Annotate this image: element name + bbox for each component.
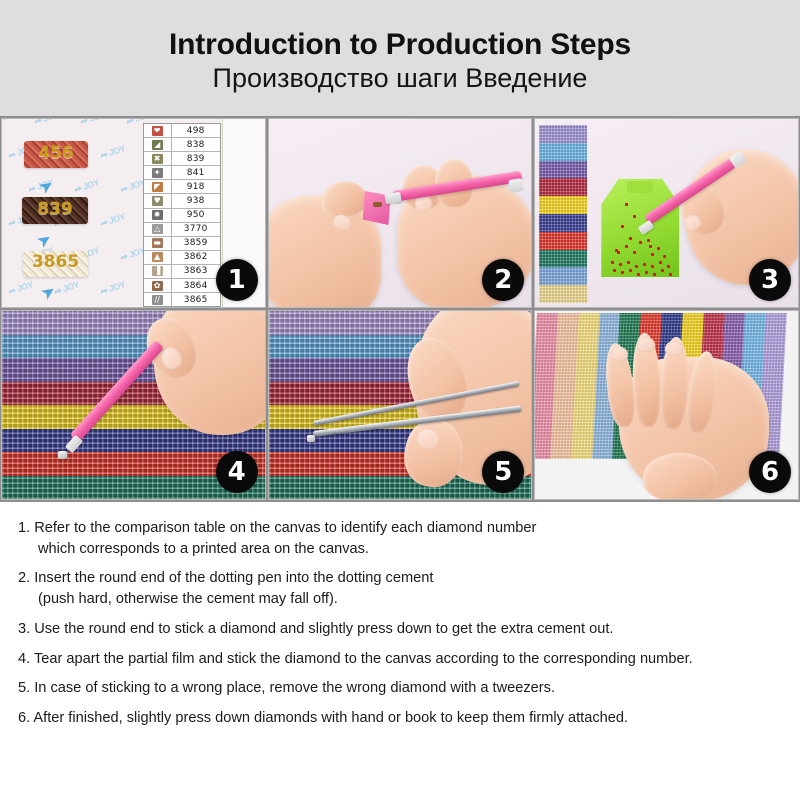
diamond-on-pen-tip bbox=[58, 451, 67, 459]
diamond-in-tweezers bbox=[307, 435, 315, 442]
color-chart-row: ◢838 bbox=[144, 138, 220, 152]
canvas-watermark-logo: ➦ JOY bbox=[7, 279, 35, 297]
dmc-symbol-icon: ✦ bbox=[152, 168, 163, 178]
color-symbol-cell: ▬ bbox=[144, 237, 172, 250]
step-number-badge-6: 6 bbox=[749, 451, 791, 493]
color-chart-row: ∕∕3865 bbox=[144, 293, 220, 306]
instruction-step: 6. After finished, slightly press down d… bbox=[18, 708, 782, 729]
color-chart-row: ✦841 bbox=[144, 166, 220, 180]
color-code-cell: 498 bbox=[172, 124, 220, 137]
step-number-badge-1: 1 bbox=[216, 259, 258, 301]
color-symbol-cell: ❤ bbox=[144, 124, 172, 137]
color-code-cell: 3864 bbox=[172, 279, 220, 292]
canvas-watermark-logo: ➦ JOY bbox=[33, 118, 61, 128]
fingernail-3 bbox=[665, 341, 683, 356]
instruction-step-line: 4. Tear apart the partial film and stick… bbox=[18, 649, 782, 670]
color-chart-row: ❤498 bbox=[144, 124, 220, 138]
color-symbol-cell: ✖ bbox=[144, 152, 172, 165]
step-panel-4: 4 bbox=[1, 310, 266, 500]
color-symbol-cell: ∕∕ bbox=[144, 293, 172, 306]
color-chart-row: △3770 bbox=[144, 223, 220, 237]
step-photo-grid: ➦ JOY➦ JOY➦ JOY➦ JOY➦ JOY➦ JOY➦ JOY➦ JOY… bbox=[0, 116, 800, 502]
dmc-symbol-icon: ❤ bbox=[152, 126, 163, 136]
page-header: Introduction to Production Steps Произво… bbox=[0, 0, 800, 116]
diamond-bag-cream: 3865 bbox=[23, 251, 88, 277]
dmc-symbol-icon: ✹ bbox=[152, 210, 163, 220]
instruction-step-line: 2. Insert the round end of the dotting p… bbox=[18, 568, 782, 589]
instruction-step: 1. Refer to the comparison table on the … bbox=[18, 518, 782, 559]
page-title-russian: Производство шаги Введение bbox=[213, 63, 588, 94]
color-symbol-cell: ◤ bbox=[144, 180, 172, 193]
dmc-symbol-icon: ◢ bbox=[152, 140, 163, 150]
color-code-cell: 918 bbox=[172, 180, 220, 193]
step-panel-1: ➦ JOY➦ JOY➦ JOY➦ JOY➦ JOY➦ JOY➦ JOY➦ JOY… bbox=[1, 118, 266, 308]
color-code-cell: 3862 bbox=[172, 251, 220, 264]
diamond-bag-label-1: 456 bbox=[38, 143, 74, 163]
dotting-pen-tip bbox=[384, 192, 401, 204]
instruction-list: 1. Refer to the comparison table on the … bbox=[0, 502, 800, 729]
diamond-bag-red: 456 bbox=[24, 141, 88, 168]
color-chart-row: ♥938 bbox=[144, 194, 220, 208]
instruction-step-line: 3. Use the round end to stick a diamond … bbox=[18, 619, 782, 640]
color-chart-row: ✿3864 bbox=[144, 279, 220, 293]
fingernail-2 bbox=[637, 337, 655, 352]
step-panel-6: 6 bbox=[534, 310, 799, 500]
color-code-cell: 841 bbox=[172, 166, 220, 179]
color-symbol-cell: ▲ bbox=[144, 251, 172, 264]
color-chart-row: ▐3863 bbox=[144, 265, 220, 279]
step-panel-2: 2 bbox=[268, 118, 533, 308]
diamond-bag-label-2: 839 bbox=[37, 199, 73, 219]
instruction-step: 2. Insert the round end of the dotting p… bbox=[18, 568, 782, 609]
color-code-cell: 950 bbox=[172, 209, 220, 222]
color-chart-row: ◤918 bbox=[144, 180, 220, 194]
color-symbol-cell: △ bbox=[144, 223, 172, 236]
dmc-symbol-icon: ✖ bbox=[152, 154, 163, 164]
instruction-step-line: 6. After finished, slightly press down d… bbox=[18, 708, 782, 729]
dmc-symbol-icon: ▬ bbox=[152, 238, 163, 248]
instruction-step: 4. Tear apart the partial film and stick… bbox=[18, 649, 782, 670]
color-symbol-cell: ✹ bbox=[144, 209, 172, 222]
instruction-sheet: Introduction to Production Steps Произво… bbox=[0, 0, 800, 800]
dmc-symbol-icon: ♥ bbox=[152, 196, 163, 206]
diamond-bag-brown: 839 bbox=[22, 197, 88, 224]
cement-hole bbox=[373, 202, 382, 207]
step-panel-3: 3 bbox=[534, 118, 799, 308]
fingernail-1 bbox=[611, 347, 628, 361]
canvas-watermark-logo: ➦ JOY bbox=[1, 118, 15, 128]
instruction-step-continuation: which corresponds to a printed area on t… bbox=[18, 539, 782, 560]
dmc-symbol-icon: ▐ bbox=[152, 266, 163, 276]
color-symbol-cell: ✦ bbox=[144, 166, 172, 179]
dmc-symbol-icon: ∕∕ bbox=[152, 295, 163, 305]
color-chart-row: ✹950 bbox=[144, 209, 220, 223]
canvas-texture bbox=[539, 125, 587, 303]
color-symbol-cell: ◢ bbox=[144, 138, 172, 151]
color-symbol-cell: ▐ bbox=[144, 265, 172, 278]
color-code-cell: 3863 bbox=[172, 265, 220, 278]
color-comparison-table: ❤498◢838✖839✦841◤918♥938✹950△3770▬3859▲3… bbox=[143, 123, 221, 307]
diamond-bag-label-3: 3865 bbox=[32, 252, 79, 272]
canvas-watermark-logo: ➦ JOY bbox=[99, 211, 127, 229]
striped-canvas-sample bbox=[539, 125, 587, 303]
step-panel-5: 5 bbox=[268, 310, 533, 500]
instruction-step: 3. Use the round end to stick a diamond … bbox=[18, 619, 782, 640]
pen-cap bbox=[508, 178, 524, 193]
step-number-badge-4: 4 bbox=[216, 451, 258, 493]
dmc-symbol-icon: ▲ bbox=[152, 252, 163, 262]
canvas-watermark-logo: ➦ JOY bbox=[99, 143, 127, 161]
color-code-cell: 3865 bbox=[172, 293, 220, 306]
color-code-cell: 3859 bbox=[172, 237, 220, 250]
color-code-cell: 838 bbox=[172, 138, 220, 151]
color-chart-row: ▲3862 bbox=[144, 251, 220, 265]
color-chart-row: ▬3859 bbox=[144, 237, 220, 251]
page-title-english: Introduction to Production Steps bbox=[169, 28, 631, 62]
instruction-step-continuation: (push hard, otherwise the cement may fal… bbox=[18, 589, 782, 610]
instruction-step-line: 1. Refer to the comparison table on the … bbox=[18, 518, 782, 539]
step-number-badge-3: 3 bbox=[749, 259, 791, 301]
dmc-symbol-icon: ✿ bbox=[152, 281, 163, 291]
color-chart-row: ✖839 bbox=[144, 152, 220, 166]
color-code-cell: 3770 bbox=[172, 223, 220, 236]
color-symbol-cell: ✿ bbox=[144, 279, 172, 292]
thumb bbox=[643, 453, 717, 500]
dmc-symbol-icon: △ bbox=[152, 224, 163, 234]
instruction-step: 5. In case of sticking to a wrong place,… bbox=[18, 678, 782, 699]
instruction-step-line: 5. In case of sticking to a wrong place,… bbox=[18, 678, 782, 699]
color-symbol-cell: ♥ bbox=[144, 194, 172, 207]
canvas-watermark-logo: ➦ JOY bbox=[99, 279, 127, 297]
color-code-cell: 839 bbox=[172, 152, 220, 165]
color-code-cell: 938 bbox=[172, 194, 220, 207]
canvas-watermark-logo: ➦ JOY bbox=[73, 177, 101, 195]
dmc-symbol-icon: ◤ bbox=[152, 182, 163, 192]
diamond-tray-groove bbox=[627, 181, 653, 193]
canvas-watermark-logo: ➦ JOY bbox=[79, 118, 107, 128]
